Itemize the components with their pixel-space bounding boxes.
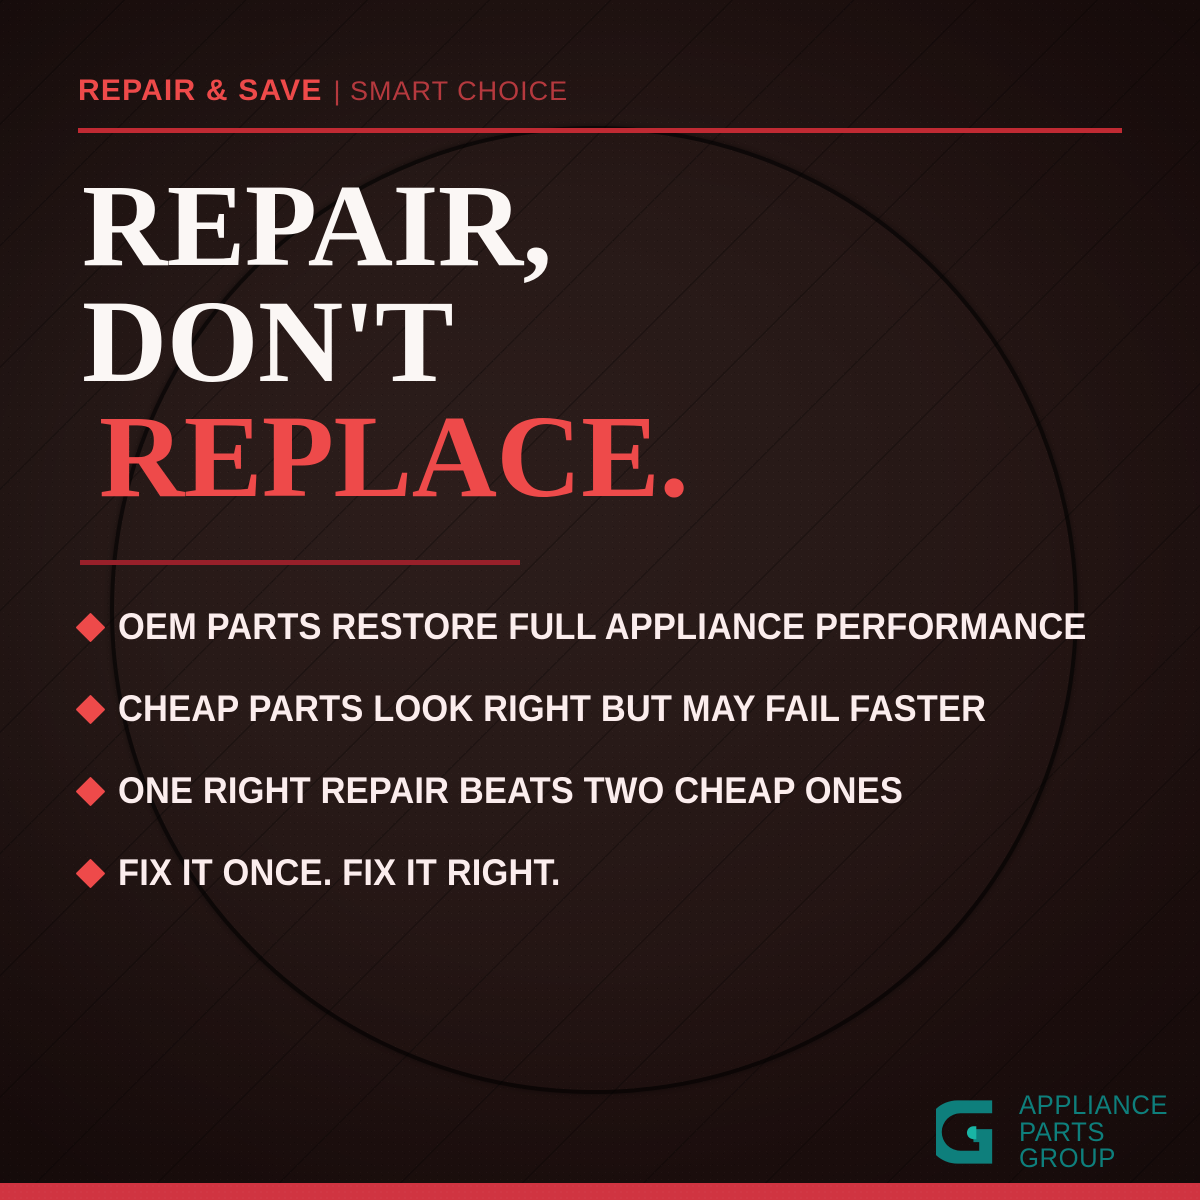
page-title: REPAIR, DON'T REPLACE. [82,168,688,515]
diamond-icon [76,694,106,724]
list-item: CHEAP PARTS LOOK RIGHT BUT MAY FAIL FAST… [80,668,1150,750]
g-monogram-icon [936,1096,1008,1168]
list-item-label: OEM PARTS RESTORE FULL APPLIANCE PERFORM… [118,606,1087,648]
bottom-bar-texture [0,1183,1200,1200]
header-divider [78,128,1122,133]
bullets-divider [80,560,520,565]
poster-canvas: REPAIR & SAVE | SMART CHOICE REPAIR, DON… [0,0,1200,1200]
bottom-accent-bar [0,1183,1200,1200]
benefits-list: OEM PARTS RESTORE FULL APPLIANCE PERFORM… [80,586,1150,914]
diamond-icon [76,612,106,642]
brand-logo-wordmark: APPLIANCE PARTS GROUP [1019,1092,1176,1172]
brand-logo: APPLIANCE PARTS GROUP [936,1092,1176,1172]
brand-word-line-2: PARTS [1019,1119,1168,1146]
kicker: REPAIR & SAVE | SMART CHOICE [78,74,568,108]
poster-content: REPAIR & SAVE | SMART CHOICE REPAIR, DON… [0,0,1200,1200]
diamond-icon [76,858,106,888]
headline-line-1: REPAIR, [82,168,688,284]
headline-line-3: REPLACE. [82,399,688,515]
kicker-sub-label: | SMART CHOICE [334,76,569,107]
brand-word-line-3: GROUP [1019,1145,1168,1172]
list-item-label: CHEAP PARTS LOOK RIGHT BUT MAY FAIL FAST… [118,688,986,730]
diamond-icon [76,776,106,806]
list-item: OEM PARTS RESTORE FULL APPLIANCE PERFORM… [80,586,1150,668]
list-item: FIX IT ONCE. FIX IT RIGHT. [80,832,1150,914]
list-item-label: ONE RIGHT REPAIR BEATS TWO CHEAP ONES [118,770,903,812]
list-item: ONE RIGHT REPAIR BEATS TWO CHEAP ONES [80,750,1150,832]
headline-line-2: DON'T [82,284,688,400]
brand-word-line-1: APPLIANCE [1019,1092,1168,1119]
kicker-main-label: REPAIR & SAVE [78,74,323,108]
list-item-label: FIX IT ONCE. FIX IT RIGHT. [118,852,561,894]
